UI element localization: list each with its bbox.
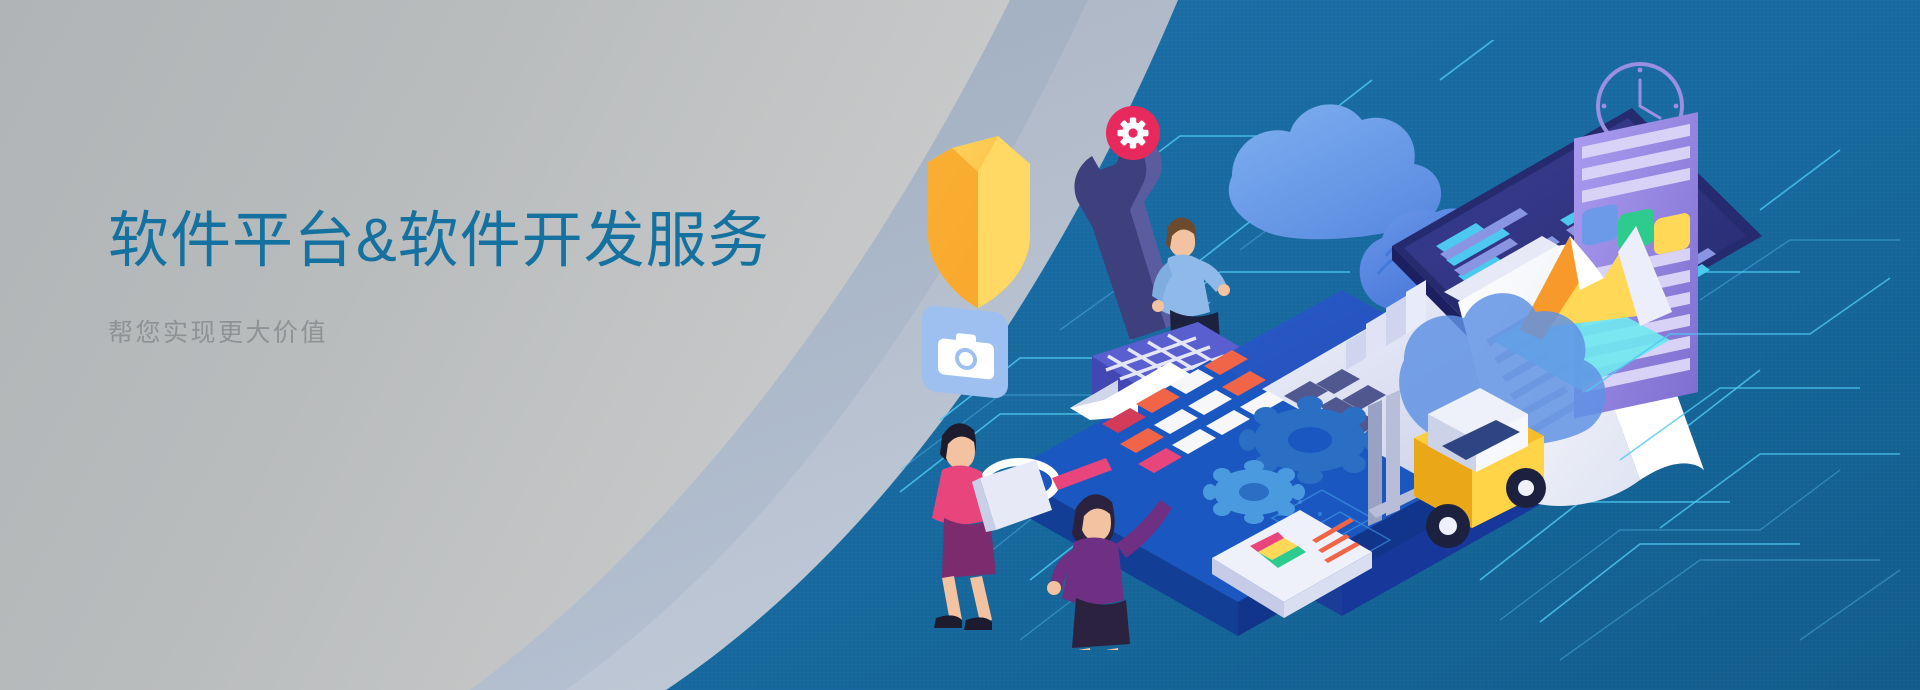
- hero-text-block: 软件平台&软件开发服务 帮您实现更大价值: [108, 206, 868, 349]
- shield-icon: [928, 136, 1030, 308]
- page-title: 软件平台&软件开发服务: [108, 206, 868, 274]
- analyst-person-pink: [932, 423, 1052, 630]
- hero-illustration: [880, 40, 1920, 650]
- gear-badge-icon: [1106, 106, 1160, 160]
- camera-icon: [922, 304, 1008, 399]
- hero-banner: 软件平台&软件开发服务 帮您实现更大价值: [0, 0, 1920, 690]
- page-subtitle: 帮您实现更大价值: [108, 313, 868, 349]
